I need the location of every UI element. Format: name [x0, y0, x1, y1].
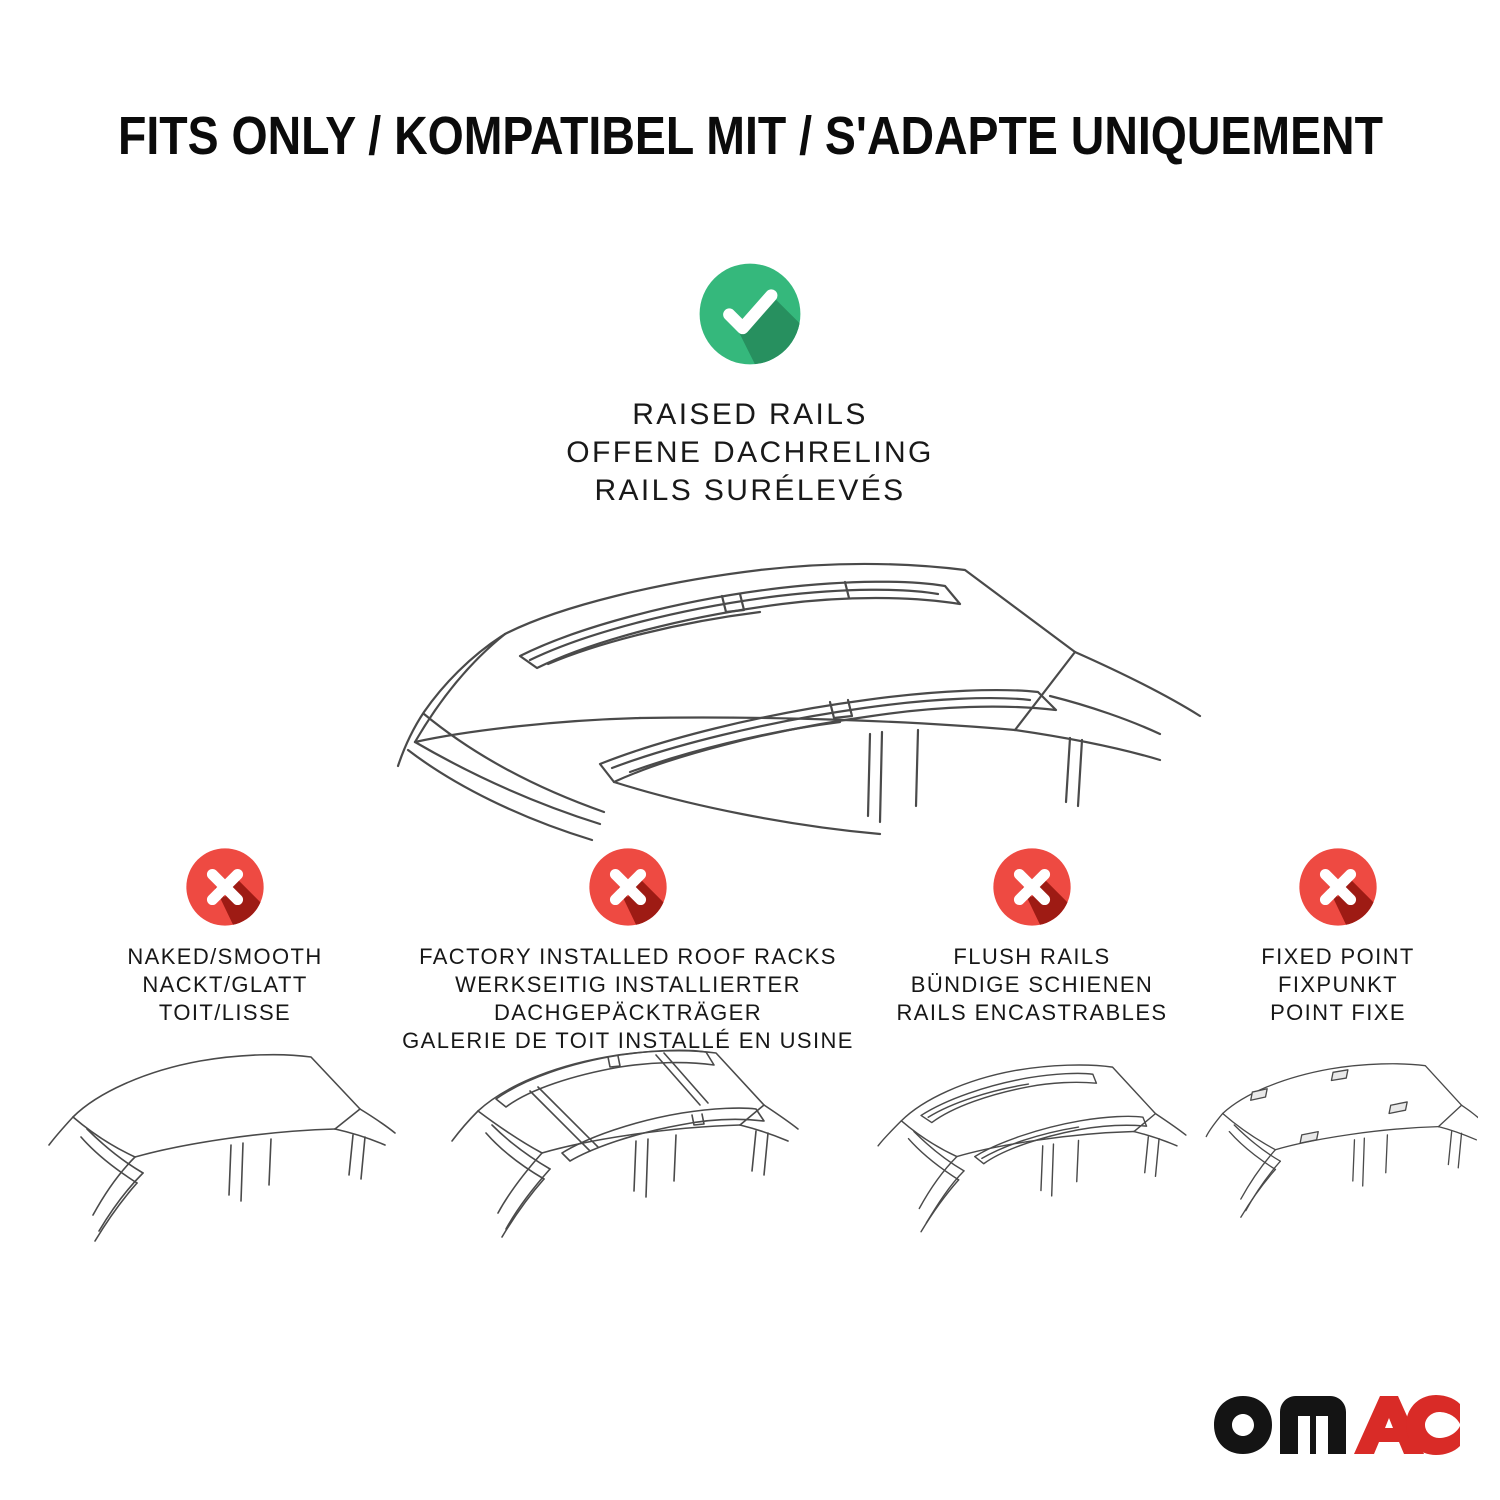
incompatible-labels-flush-rails: FLUSH RAILS BÜNDIGE SCHIENEN RAILS ENCAS…	[862, 943, 1202, 1027]
compatible-labels: RAISED RAILS OFFENE DACHRELING RAILS SUR…	[0, 396, 1500, 510]
x-circle-icon	[183, 845, 267, 929]
label-de: NACKT/GLATT	[35, 971, 415, 999]
incompatible-item-factory-racks: FACTORY INSTALLED ROOF RACKS WERKSEITIG …	[398, 845, 858, 1055]
omac-logo	[1212, 1394, 1462, 1456]
incompatible-labels-fixed-point: FIXED POINT FIXPUNKT POINT FIXE	[1198, 943, 1478, 1027]
incompatible-item-naked-smooth: NAKED/SMOOTH NACKT/GLATT TOIT/LISSE	[35, 845, 415, 1027]
label-de: BÜNDIGE SCHIENEN	[862, 971, 1202, 999]
x-circle-icon	[586, 845, 670, 929]
label-en: NAKED/SMOOTH	[35, 943, 415, 971]
car-roof-raised-rails-illustration	[0, 534, 1500, 844]
compatible-label-de: OFFENE DACHRELING	[0, 434, 1500, 472]
compatible-section: RAISED RAILS OFFENE DACHRELING RAILS SUR…	[0, 258, 1500, 844]
x-circle-icon	[990, 845, 1074, 929]
label-en: FIXED POINT	[1198, 943, 1478, 971]
label-de-1: WERKSEITIG INSTALLIERTER	[398, 971, 858, 999]
incompatible-item-fixed-point: FIXED POINT FIXPUNKT POINT FIXE	[1198, 845, 1478, 1027]
label-fr: TOIT/LISSE	[35, 999, 415, 1027]
label-en: FACTORY INSTALLED ROOF RACKS	[398, 943, 858, 971]
page-title: FITS ONLY / KOMPATIBEL MIT / S'ADAPTE UN…	[0, 104, 1500, 168]
car-roof-factory-racks-illustration	[398, 1033, 858, 1273]
x-circle-icon	[1296, 845, 1380, 929]
car-roof-fixed-point-illustration	[1198, 1033, 1478, 1273]
page-title-text: FITS ONLY / KOMPATIBEL MIT / S'ADAPTE UN…	[117, 104, 1382, 168]
incompatible-labels-naked-smooth: NAKED/SMOOTH NACKT/GLATT TOIT/LISSE	[35, 943, 415, 1027]
incompatible-section: NAKED/SMOOTH NACKT/GLATT TOIT/LISSE	[0, 845, 1500, 1345]
label-de-2: DACHGEPÄCKTRÄGER	[398, 999, 858, 1027]
label-de: FIXPUNKT	[1198, 971, 1478, 999]
label-fr: RAILS ENCASTRABLES	[862, 999, 1202, 1027]
compatible-label-en: RAISED RAILS	[0, 396, 1500, 434]
label-en: FLUSH RAILS	[862, 943, 1202, 971]
label-fr: POINT FIXE	[1198, 999, 1478, 1027]
car-roof-flush-rails-illustration	[862, 1033, 1202, 1273]
car-roof-naked-smooth-illustration	[35, 1033, 415, 1273]
compatible-label-fr: RAILS SURÉLEVÉS	[0, 472, 1500, 510]
check-circle-icon	[694, 258, 806, 370]
incompatible-item-flush-rails: FLUSH RAILS BÜNDIGE SCHIENEN RAILS ENCAS…	[862, 845, 1202, 1027]
